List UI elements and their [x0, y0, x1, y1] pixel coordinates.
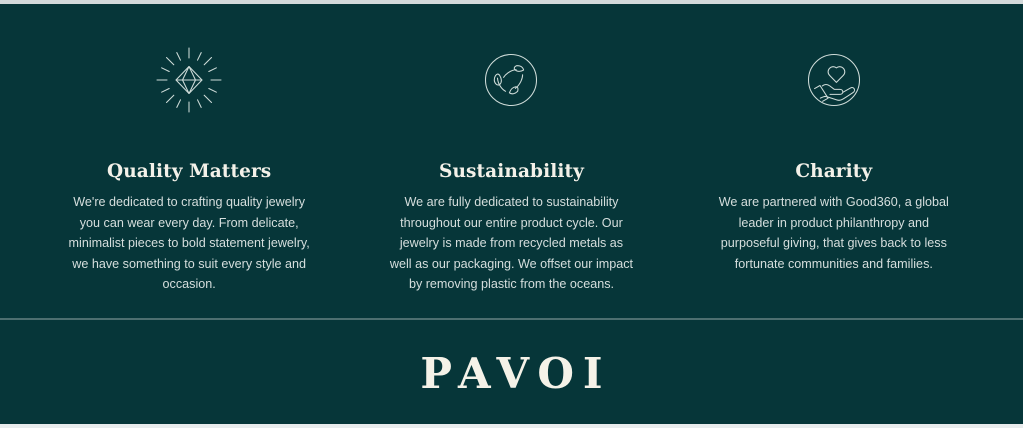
feature-description: We're dedicated to crafting quality jewe… [64, 192, 314, 294]
footer-dark-section: Quality Matters We're dedicated to craft… [0, 4, 1023, 424]
page-root: Quality Matters We're dedicated to craft… [0, 0, 1023, 424]
feature-title: Quality Matters [107, 162, 271, 182]
feature-column-charity: Charity We are partnered with Good360, a… [673, 44, 995, 274]
feature-column-sustainability: Sustainability We are fully dedicated to… [350, 44, 672, 294]
feature-description: We are partnered with Good360, a global … [710, 192, 958, 274]
leaves-recycle-circle-icon [475, 44, 547, 116]
feature-description: We are fully dedicated to sustainability… [389, 192, 633, 294]
pavoi-logo[interactable]: PAVOI [411, 353, 611, 395]
feature-title: Charity [795, 162, 872, 182]
hand-heart-circle-icon [798, 44, 870, 116]
brand-footer: PAVOI [0, 320, 1023, 428]
feature-columns: Quality Matters We're dedicated to craft… [0, 4, 1023, 318]
feature-title: Sustainability [439, 162, 584, 182]
feature-column-quality: Quality Matters We're dedicated to craft… [28, 44, 350, 294]
gem-sparkle-icon [153, 44, 225, 116]
